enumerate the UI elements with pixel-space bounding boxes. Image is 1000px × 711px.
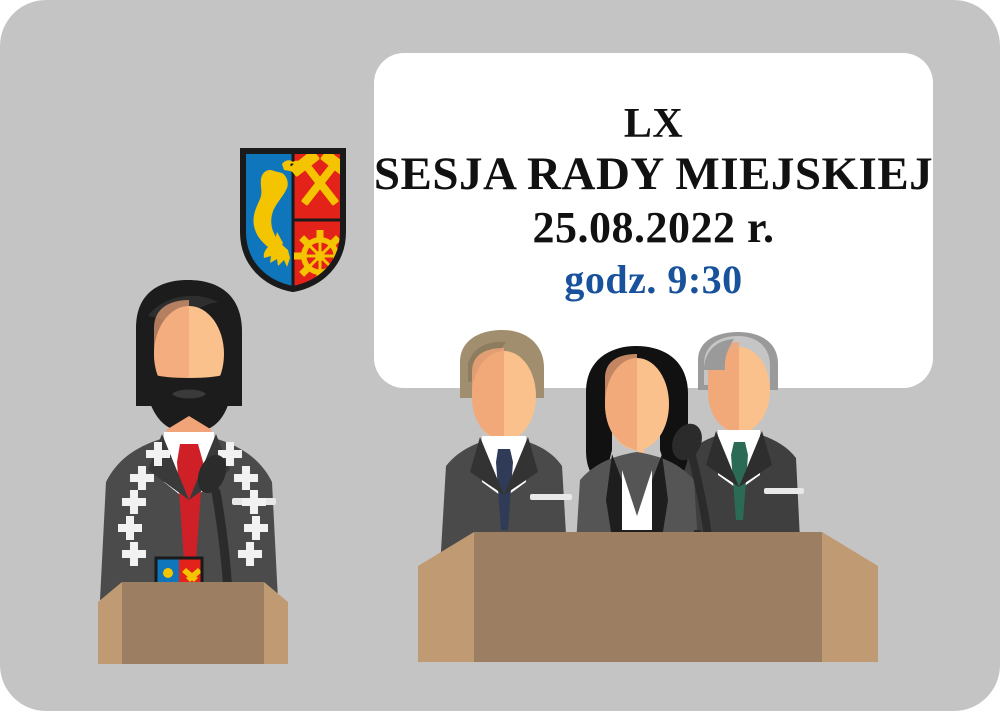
session-date-text: 25.08.2022 r. (533, 203, 775, 252)
session-title-text: SESJA RADY MIEJSKIEJ (374, 148, 933, 201)
mayor-figure (92, 276, 292, 666)
council-desk (418, 532, 878, 662)
councillor-left-face-shade (472, 348, 504, 441)
council-desk-front (474, 532, 822, 662)
session-number-text: LX (624, 101, 683, 148)
coat-of-arms (238, 146, 348, 294)
lectern-front (122, 582, 264, 664)
councillor-left-pocket-square (530, 494, 572, 500)
lectern (98, 582, 288, 664)
councillor-right-pocket-square (764, 488, 804, 494)
council-members-group (398, 330, 898, 670)
poster-canvas: LX SESJA RADY MIEJSKIEJ 25.08.2022 r. go… (0, 0, 1000, 711)
session-time-text: godz. 9:30 (564, 258, 742, 303)
